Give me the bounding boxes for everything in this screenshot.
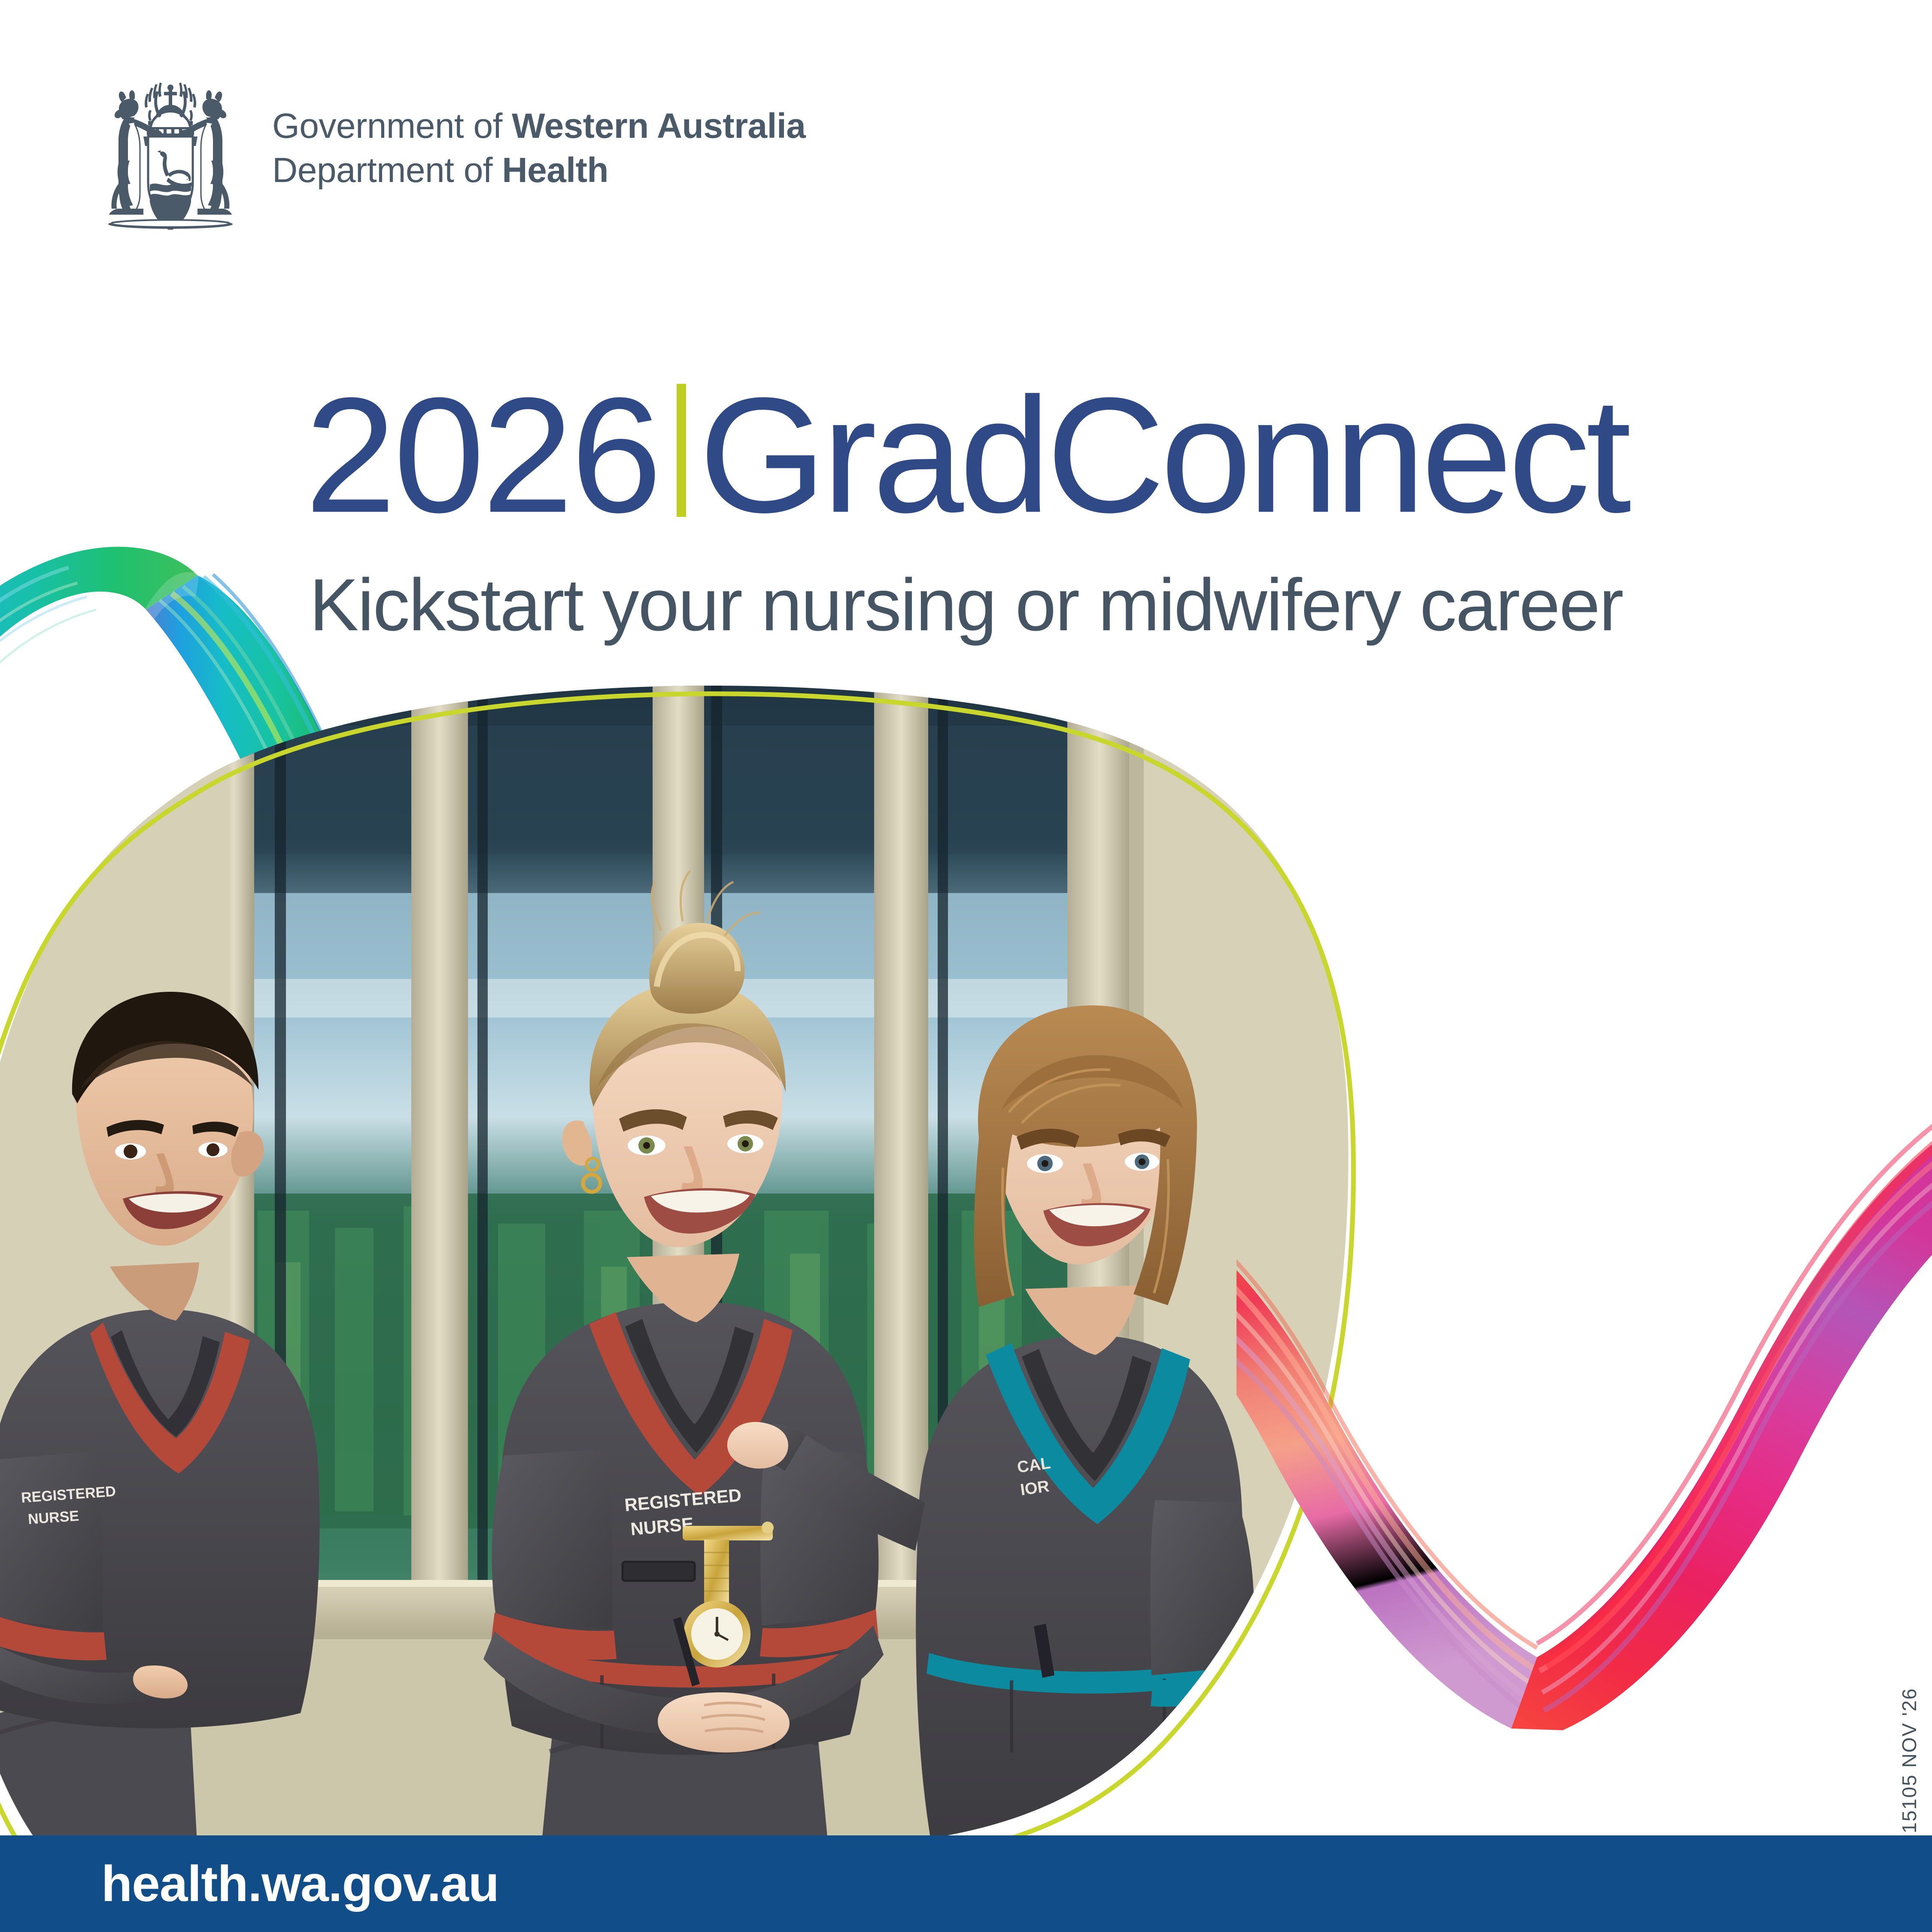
government-logo-text: Government of Western Australia Departme… (272, 69, 805, 193)
logo-line-government: Government of Western Australia (272, 104, 805, 148)
headline-brand: GradConnect (699, 378, 1627, 532)
logo-dept-plain: Department of (272, 151, 502, 190)
logo-gov-bold: Western Australia (512, 106, 805, 146)
footer-website-url[interactable]: health.wa.gov.au (101, 1855, 499, 1913)
headline-year: 2026 (305, 378, 659, 532)
publication-code: 15105 NOV '26 (1898, 1688, 1921, 1833)
tagline: Kickstart your nursing or midwifery care… (0, 562, 1932, 647)
footer-bar: health.wa.gov.au (0, 1835, 1932, 1932)
poster-canvas: Government of Western Australia Departme… (0, 0, 1932, 1932)
hero-photo: REGISTERED NURSE (0, 653, 1391, 1846)
logo-dept-bold: Health (502, 151, 608, 190)
headline-divider-bar (677, 384, 686, 517)
headline: 2026 GradConnect (0, 378, 1932, 532)
wa-coat-of-arms-icon (91, 69, 250, 230)
government-logo: Government of Western Australia Departme… (91, 69, 805, 230)
logo-line-department: Department of Health (272, 148, 805, 192)
logo-gov-plain: Government of (272, 106, 512, 146)
